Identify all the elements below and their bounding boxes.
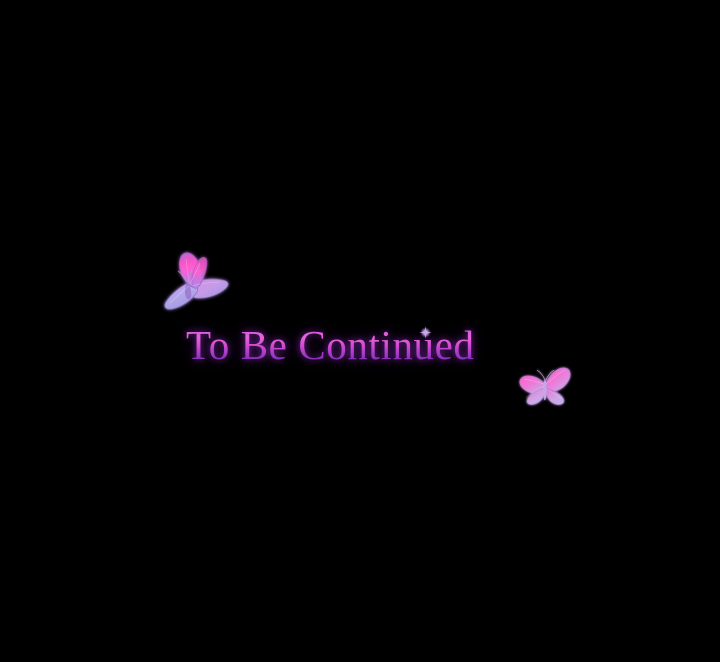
page-title: To Be Continued To Be Continued To Be Co… bbox=[186, 322, 546, 372]
butterfly-left-icon bbox=[152, 248, 232, 314]
wallpaper-canvas: To Be Continued To Be Continued To Be Co… bbox=[0, 0, 720, 662]
title-label: To Be Continued bbox=[186, 322, 546, 368]
